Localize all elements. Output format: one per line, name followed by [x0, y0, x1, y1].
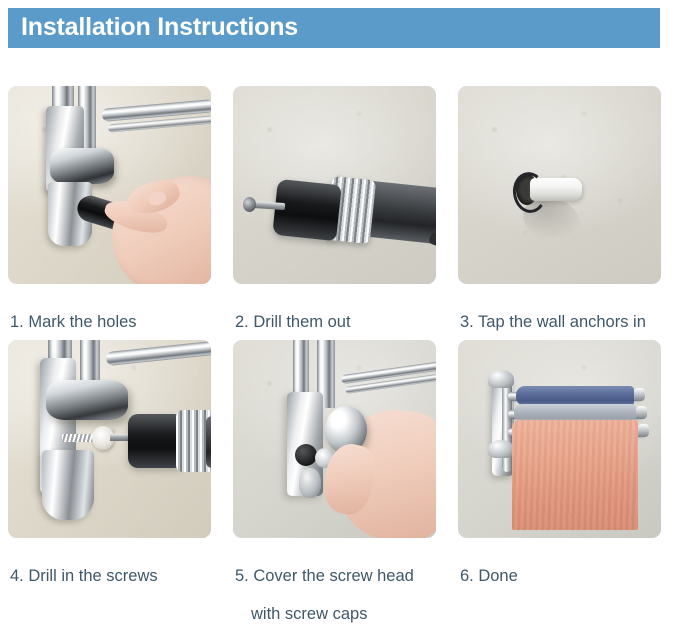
step-cell-6: 6. Done: [458, 340, 661, 643]
step-caption-1: 1. Mark the holes: [8, 294, 211, 332]
step-cell-1: 1. Mark the holes: [8, 86, 211, 332]
step-photo-4: [8, 340, 211, 538]
step-caption-1-line1: 1. Mark the holes: [10, 313, 137, 331]
arm-tip-3: [638, 424, 649, 437]
step-caption-5-line2: with screw caps: [235, 605, 436, 624]
step-caption-3-line1: 3. Tap the wall anchors in: [460, 313, 646, 331]
screw: [62, 434, 96, 442]
step-caption-5: 5. Cover the screw head with screw caps: [233, 548, 436, 643]
drill-body: [206, 416, 211, 468]
screw-cap-lower: [299, 468, 321, 498]
screw-cap-top: [488, 370, 514, 388]
chrome-knob: [50, 148, 114, 184]
header-banner: Installation Instructions: [8, 8, 660, 48]
towel-blue: [516, 386, 634, 406]
step-caption-4: 4. Drill in the screws: [8, 548, 211, 586]
step-caption-6-line1: 6. Done: [460, 567, 518, 585]
step-caption-6: 6. Done: [458, 548, 661, 586]
arm-tip-2: [636, 406, 647, 419]
page-title: Installation Instructions: [21, 15, 298, 40]
step-caption-3: 3. Tap the wall anchors in: [458, 294, 661, 332]
screw-cap-bottom: [488, 440, 514, 458]
step-caption-2-line1: 2. Drill them out: [235, 313, 351, 331]
screw-cap-dark: [295, 444, 317, 466]
step-cell-5: 5. Cover the screw head with screw caps: [233, 340, 436, 643]
steps-grid: 1. Mark the holes 2. Drill them out: [8, 86, 663, 643]
step-photo-5: [233, 340, 436, 538]
installation-instructions-page: Installation Instructions: [0, 0, 679, 592]
step-photo-2: [233, 86, 436, 284]
step-caption-2: 2. Drill them out: [233, 294, 436, 332]
chrome-hook: [42, 450, 94, 520]
step-photo-1: [8, 86, 211, 284]
towel-peach: [512, 420, 638, 530]
step-cell-3: 3. Tap the wall anchors in: [458, 86, 661, 332]
step-cell-4: 4. Drill in the screws: [8, 340, 211, 643]
arm-tip-1: [634, 388, 645, 401]
step-photo-6: [458, 340, 661, 538]
step-photo-3: [458, 86, 661, 284]
step-caption-5-line1: 5. Cover the screw head: [235, 567, 414, 585]
chrome-knob: [46, 380, 128, 420]
step-cell-2: 2. Drill them out: [233, 86, 436, 332]
bracket-post-right: [80, 340, 100, 384]
step-caption-4-line1: 4. Drill in the screws: [10, 567, 158, 585]
drill-bit-tip: [243, 197, 256, 212]
